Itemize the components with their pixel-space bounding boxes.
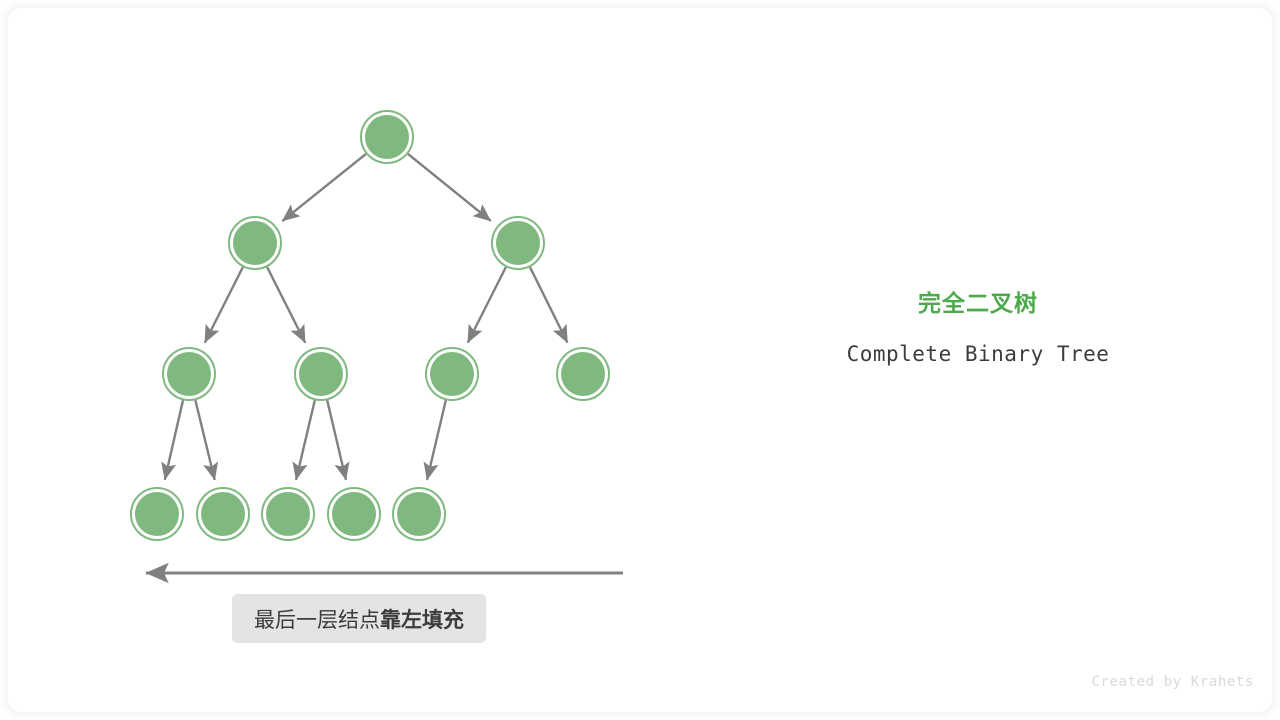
tree-node-fill [332, 492, 376, 536]
tree-node-fill [167, 352, 211, 396]
tree-node-fill [201, 492, 245, 536]
tree-edge [530, 267, 567, 342]
tree-node [229, 217, 281, 269]
tree-node-fill [299, 352, 343, 396]
tree-node [197, 488, 249, 540]
tree-edge [205, 267, 243, 343]
tree-edge [408, 154, 491, 221]
screenshot-root: 最后一层结点靠左填充 完全二叉树 Complete Binary Tree Cr… [0, 0, 1280, 720]
tree-node-fill [233, 221, 277, 265]
panel-subtitle: Complete Binary Tree [768, 340, 1188, 368]
tree-node-fill [266, 492, 310, 536]
tree-edge-layer [165, 154, 568, 480]
tree-node [361, 111, 413, 163]
tree-node [131, 488, 183, 540]
tree-edge [267, 267, 305, 343]
caption-label: 最后一层结点靠左填充 [254, 604, 464, 634]
diagram-stage: 最后一层结点靠左填充 完全二叉树 Complete Binary Tree Cr… [8, 8, 1272, 712]
tree-edge [282, 154, 366, 221]
tree-node [393, 488, 445, 540]
tree-node-fill [397, 492, 441, 536]
tree-node-fill [561, 352, 605, 396]
tree-node [557, 348, 609, 400]
diagram-card: 最后一层结点靠左填充 完全二叉树 Complete Binary Tree Cr… [8, 8, 1272, 712]
panel-title: 完全二叉树 [768, 288, 1188, 318]
caption-bold-text: 靠左填充 [380, 609, 464, 632]
tree-edge [296, 400, 315, 480]
tree-node-fill [496, 221, 540, 265]
tree-node [262, 488, 314, 540]
caption-normal-text: 最后一层结点 [254, 609, 380, 632]
tree-edge [327, 400, 346, 480]
tree-edge [165, 400, 183, 480]
tree-node [163, 348, 215, 400]
tree-node-fill [365, 115, 409, 159]
tree-node-fill [430, 352, 474, 396]
tree-edge [427, 400, 446, 480]
watermark-credit: Created by Krahets [1091, 674, 1254, 690]
tree-node [492, 217, 544, 269]
caption-badge: 最后一层结点靠左填充 [232, 594, 486, 643]
tree-node [328, 488, 380, 540]
info-panel: 完全二叉树 Complete Binary Tree [768, 288, 1188, 368]
tree-node-layer [131, 111, 609, 540]
tree-node [295, 348, 347, 400]
tree-node [426, 348, 478, 400]
tree-node-fill [135, 492, 179, 536]
tree-edge [468, 267, 506, 343]
tree-edge [195, 400, 214, 480]
